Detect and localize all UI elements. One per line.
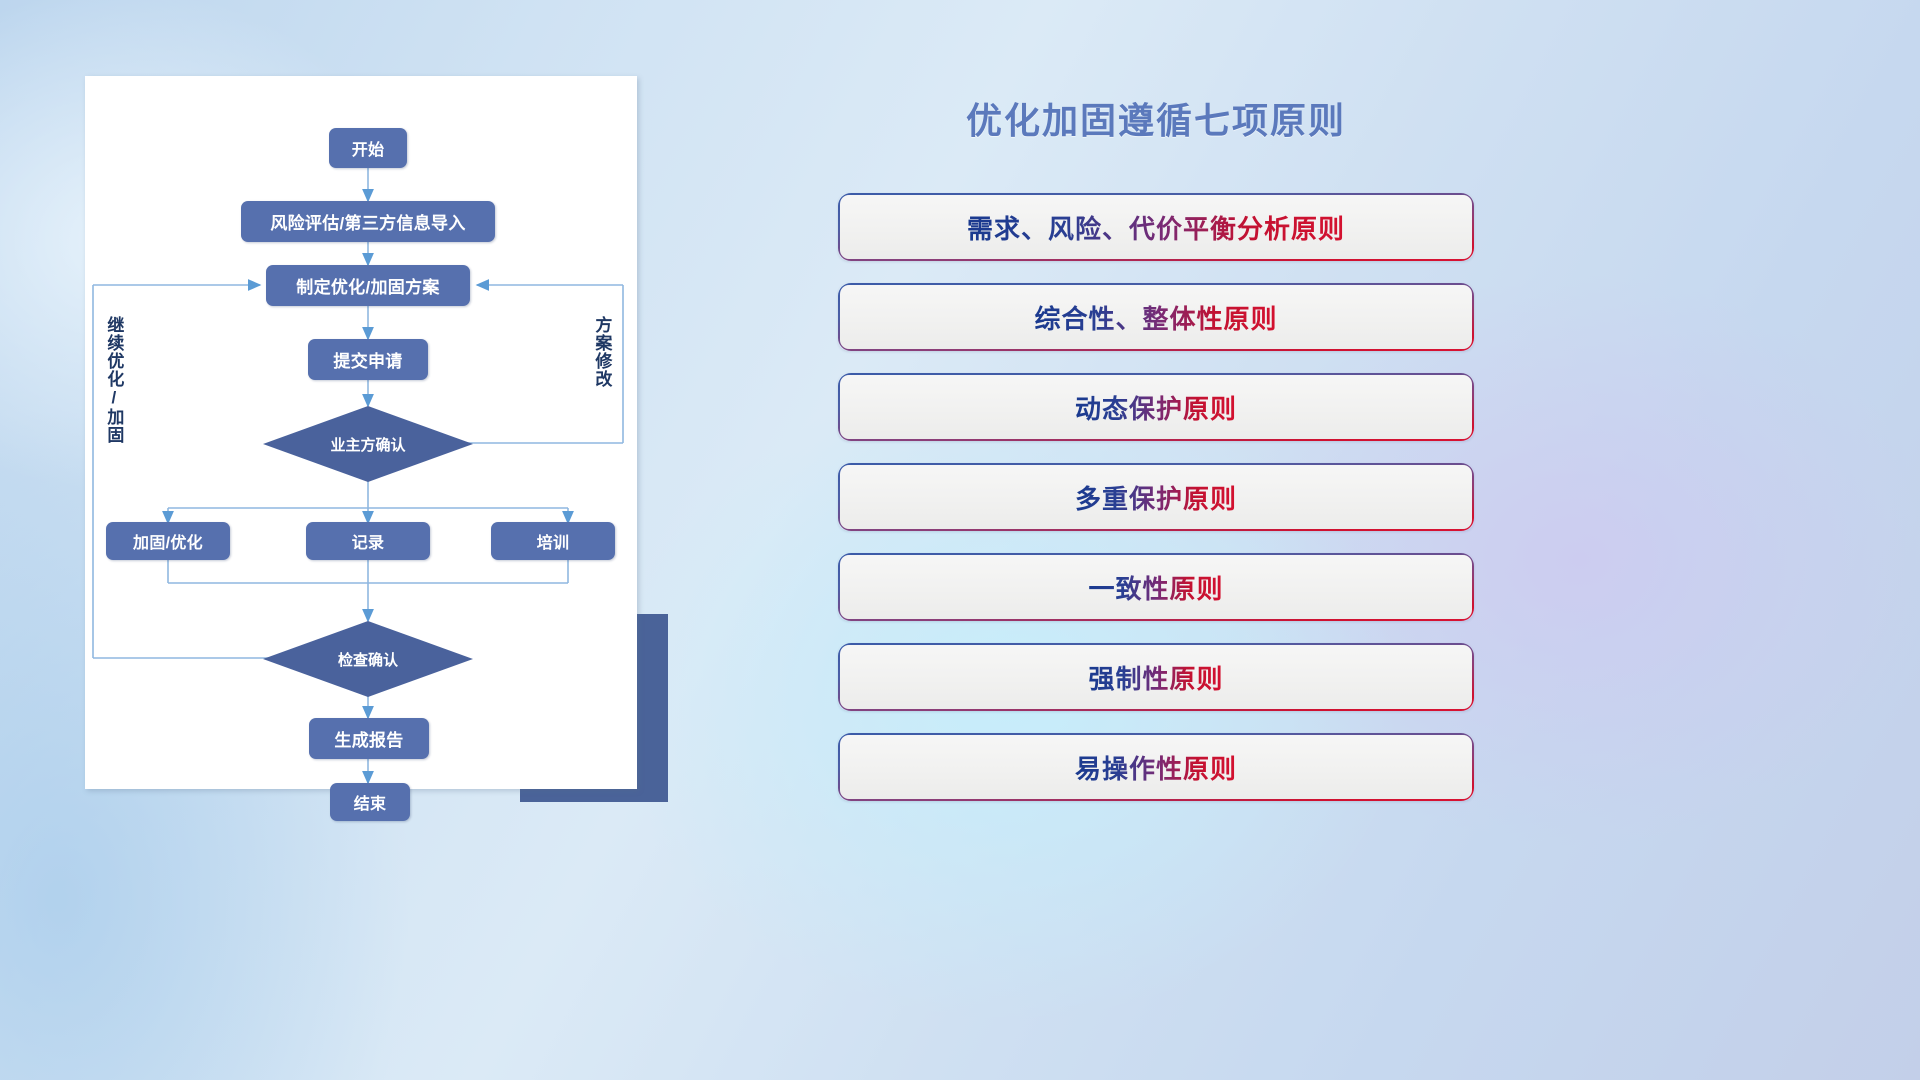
flowchart-card: 开始 风险评估/第三方信息导入 制定优化/加固方案 提交申请 业主方确认 加固/… [85, 76, 637, 789]
principle-label: 易操作性原则 [1075, 749, 1237, 786]
flow-edge-label-right-loop: 方案修改 [593, 316, 610, 388]
flow-node-submit-label: 提交申请 [333, 347, 402, 372]
flow-node-reinforce[interactable]: 加固/优化 [106, 522, 230, 560]
page-title: 优化加固遵循七项原则 [838, 92, 1474, 144]
principle-label: 多重保护原则 [1075, 479, 1237, 516]
flow-node-end[interactable]: 结束 [330, 783, 410, 821]
flow-node-report-label: 生成报告 [334, 726, 403, 751]
flow-node-start[interactable]: 开始 [329, 128, 407, 168]
flow-node-report[interactable]: 生成报告 [309, 718, 429, 759]
principle-item[interactable]: 一致性原则 [838, 553, 1474, 621]
flow-node-assess-label: 风险评估/第三方信息导入 [270, 209, 465, 234]
principle-item[interactable]: 强制性原则 [838, 643, 1474, 711]
flow-decision-owner-confirm-label: 业主方确认 [330, 434, 405, 455]
principle-item[interactable]: 综合性、整体性原则 [838, 283, 1474, 351]
flow-node-training-label: 培训 [537, 529, 570, 553]
principle-label: 强制性原则 [1088, 659, 1223, 696]
principle-label: 综合性、整体性原则 [1034, 299, 1277, 336]
principle-item[interactable]: 动态保护原则 [838, 373, 1474, 441]
flow-decision-inspection-label: 检查确认 [338, 649, 398, 670]
flow-node-training[interactable]: 培训 [491, 522, 615, 560]
principle-item[interactable]: 多重保护原则 [838, 463, 1474, 531]
flow-node-reinforce-label: 加固/优化 [133, 529, 203, 553]
flow-node-assess[interactable]: 风险评估/第三方信息导入 [241, 201, 495, 242]
principle-item[interactable]: 易操作性原则 [838, 733, 1474, 801]
flow-node-submit[interactable]: 提交申请 [308, 339, 428, 380]
flow-node-end-label: 结束 [354, 790, 387, 814]
principle-item[interactable]: 需求、风险、代价平衡分析原则 [838, 193, 1474, 261]
flow-node-record[interactable]: 记录 [306, 522, 430, 560]
flow-node-record-label: 记录 [352, 529, 385, 553]
principle-label: 动态保护原则 [1075, 389, 1237, 426]
flow-node-plan[interactable]: 制定优化/加固方案 [266, 265, 470, 306]
flow-node-start-label: 开始 [352, 136, 385, 160]
principle-label: 一致性原则 [1088, 569, 1223, 606]
flow-node-plan-label: 制定优化/加固方案 [296, 273, 439, 298]
principles-list: 需求、风险、代价平衡分析原则 综合性、整体性原则 动态保护原则 多重保护原则 一… [838, 193, 1474, 823]
principle-label: 需求、风险、代价平衡分析原则 [967, 209, 1345, 246]
flow-edge-label-left-loop: 继续优化/加固 [105, 316, 122, 444]
